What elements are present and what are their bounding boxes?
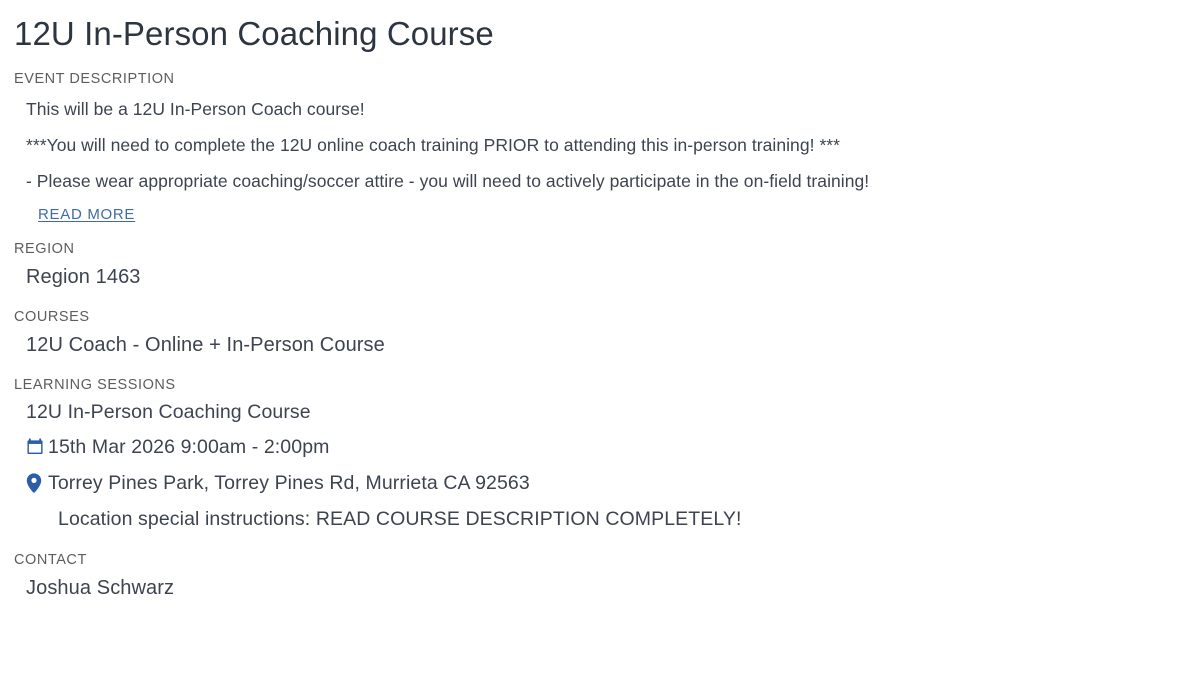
event-detail-page: 12U In-Person Coaching Course EVENT DESC… — [0, 0, 1199, 696]
section-contact: CONTACT Joshua Schwarz — [12, 551, 1187, 605]
description-line: ***You will need to complete the 12U onl… — [26, 127, 1187, 163]
calendar-icon — [26, 438, 48, 456]
contact-name: Joshua Schwarz — [26, 572, 1187, 605]
contact-label: CONTACT — [12, 551, 1187, 569]
course-item: 12U Coach - Online + In-Person Course — [26, 329, 1187, 362]
description-line: This will be a 12U In-Person Coach cours… — [26, 91, 1187, 127]
contact-body: Joshua Schwarz — [12, 569, 1187, 605]
learning-sessions-label: LEARNING SESSIONS — [12, 376, 1187, 394]
region-value: Region 1463 — [26, 261, 1187, 294]
event-description-label: EVENT DESCRIPTION — [12, 70, 1187, 88]
map-pin-icon — [26, 473, 48, 493]
courses-label: COURSES — [12, 308, 1187, 326]
page-title: 12U In-Person Coaching Course — [12, 0, 1187, 54]
read-more-container: READ MORE — [26, 199, 1187, 224]
description-line: - Please wear appropriate coaching/socce… — [26, 163, 1187, 199]
session-location-row: Torrey Pines Park, Torrey Pines Rd, Murr… — [26, 465, 1187, 501]
region-label: REGION — [12, 240, 1187, 258]
courses-body: 12U Coach - Online + In-Person Course — [12, 326, 1187, 362]
section-event-description: EVENT DESCRIPTION This will be a 12U In-… — [12, 70, 1187, 224]
event-description-body: This will be a 12U In-Person Coach cours… — [12, 88, 1187, 224]
session-datetime-row: 15th Mar 2026 9:00am - 2:00pm — [26, 429, 1187, 465]
read-more-link[interactable]: READ MORE — [38, 206, 135, 223]
learning-sessions-body: 12U In-Person Coaching Course 15th Mar 2… — [12, 394, 1187, 537]
section-region: REGION Region 1463 — [12, 240, 1187, 294]
session-location: Torrey Pines Park, Torrey Pines Rd, Murr… — [48, 465, 530, 501]
session-title: 12U In-Person Coaching Course — [26, 396, 1187, 429]
section-courses: COURSES 12U Coach - Online + In-Person C… — [12, 308, 1187, 362]
region-body: Region 1463 — [12, 258, 1187, 294]
session-location-note: Location special instructions: READ COUR… — [26, 501, 1187, 537]
section-learning-sessions: LEARNING SESSIONS 12U In-Person Coaching… — [12, 376, 1187, 537]
session-datetime: 15th Mar 2026 9:00am - 2:00pm — [48, 429, 329, 465]
